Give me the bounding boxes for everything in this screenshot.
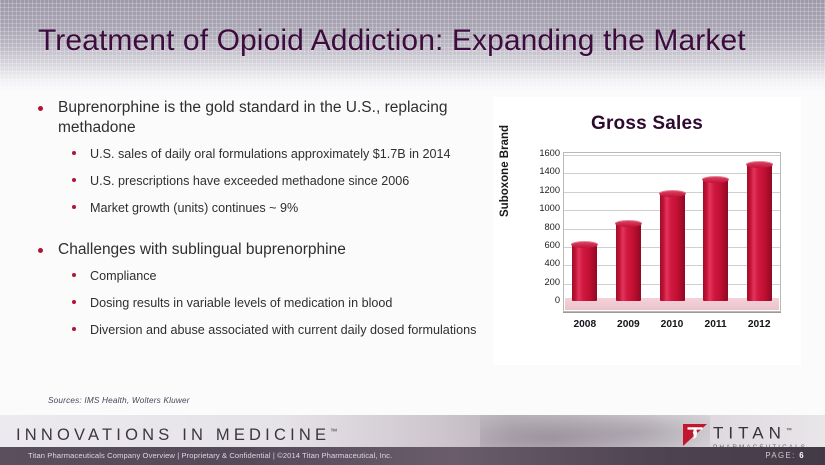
bullet-dot-icon — [72, 300, 76, 304]
slide: Treatment of Opioid Addiction: Expanding… — [0, 0, 825, 465]
chart-bar-cap — [571, 241, 598, 248]
footer-tagline: INNOVATIONS IN MEDICINE™ — [16, 426, 337, 445]
bullet-group-2: Challenges with sublingual buprenorphine… — [32, 240, 482, 339]
bullet-group-spacer — [32, 226, 482, 240]
slide-header: Treatment of Opioid Addiction: Expanding… — [0, 0, 825, 92]
chart-y-tick-label: 600 — [522, 240, 560, 250]
chart-bar — [747, 164, 772, 301]
bullet-level2-text: Diversion and abuse associated with curr… — [90, 323, 476, 337]
titan-word-text: TITAN™ — [713, 423, 807, 442]
sources-note: Sources: IMS Health, Wolters Kluwer — [48, 396, 190, 405]
bullet-level2: U.S. sales of daily oral formulations ap… — [32, 145, 482, 163]
chart-y-axis-label: Suboxone Brand — [499, 125, 511, 217]
chart-y-tick-label: 0 — [522, 295, 560, 305]
chart-x-axis — [563, 312, 781, 313]
chart-title: Gross Sales — [493, 113, 801, 135]
chart-y-tick-label: 200 — [522, 277, 560, 287]
bullet-level2-text: Compliance — [90, 269, 157, 283]
titan-logo: TITAN™ PHARMACEUTICALS — [682, 423, 807, 449]
bullet-level1-text: Buprenorphine is the gold standard in th… — [58, 99, 447, 136]
bullet-dot-icon — [72, 205, 76, 209]
trademark-icon: ™ — [330, 429, 337, 436]
bullet-level1: Buprenorphine is the gold standard in th… — [32, 98, 482, 138]
bullet-list: Buprenorphine is the gold standard in th… — [32, 98, 482, 348]
chart-bar — [660, 193, 685, 301]
chart-bar-cap — [659, 190, 686, 197]
bullet-level2-text: U.S. prescriptions have exceeded methado… — [90, 174, 409, 188]
bullet-dot-icon — [72, 327, 76, 331]
chart-bar-cap — [615, 220, 642, 227]
sub-bullet-list: Compliance Dosing results in variable le… — [32, 267, 482, 339]
sub-bullet-list: U.S. sales of daily oral formulations ap… — [32, 145, 482, 217]
chart-bar — [572, 244, 597, 301]
bullet-level2-text: Market growth (units) continues ~ 9% — [90, 201, 298, 215]
chart-y-tick-label: 800 — [522, 222, 560, 232]
bullet-level2: Diversion and abuse associated with curr… — [32, 321, 482, 339]
titan-triangle-icon — [682, 423, 708, 447]
page-number: PAGE: 6 — [765, 451, 805, 460]
page-label: PAGE: — [765, 451, 795, 460]
bullet-level1: Challenges with sublingual buprenorphine — [32, 240, 482, 260]
footer-tagline-text: INNOVATIONS IN MEDICINE — [16, 426, 330, 444]
bullet-dot-icon — [72, 178, 76, 182]
bullet-level2: Compliance — [32, 267, 482, 285]
bullet-level2: U.S. prescriptions have exceeded methado… — [32, 172, 482, 190]
chart-x-tick-label: 2012 — [729, 319, 789, 330]
page-number-value: 6 — [799, 451, 805, 460]
titan-word-label: TITAN — [713, 424, 786, 443]
bullet-dot-icon — [38, 248, 43, 253]
bullet-level1-text: Challenges with sublingual buprenorphine — [58, 241, 346, 258]
chart-y-tick-label: 1400 — [522, 166, 560, 176]
chart-bars — [563, 152, 781, 312]
chart-bar-cap — [746, 161, 773, 168]
bullet-level2-text: Dosing results in variable levels of med… — [90, 296, 392, 310]
chart-bar-cap — [702, 176, 729, 183]
bullet-dot-icon — [72, 273, 76, 277]
copyright-text: Titan Pharmaceuticals Company Overview |… — [28, 451, 392, 460]
chart-y-tick-label: 1600 — [522, 148, 560, 158]
chart-bar — [616, 223, 641, 301]
bullet-group-1: Buprenorphine is the gold standard in th… — [32, 98, 482, 217]
gross-sales-chart: Gross Sales Suboxone Brand 0200400600800… — [493, 97, 801, 365]
bullet-dot-icon — [38, 106, 43, 111]
bullet-level2-text: U.S. sales of daily oral formulations ap… — [90, 147, 451, 161]
chart-y-tick-label: 400 — [522, 258, 560, 268]
bullet-dot-icon — [72, 151, 76, 155]
chart-bar — [703, 179, 728, 301]
chart-y-tick-label: 1200 — [522, 185, 560, 195]
page-title: Treatment of Opioid Addiction: Expanding… — [38, 24, 746, 58]
bullet-level2: Dosing results in variable levels of med… — [32, 294, 482, 312]
chart-y-tick-label: 1000 — [522, 203, 560, 213]
bullet-level2: Market growth (units) continues ~ 9% — [32, 199, 482, 217]
trademark-icon: ™ — [786, 428, 792, 434]
